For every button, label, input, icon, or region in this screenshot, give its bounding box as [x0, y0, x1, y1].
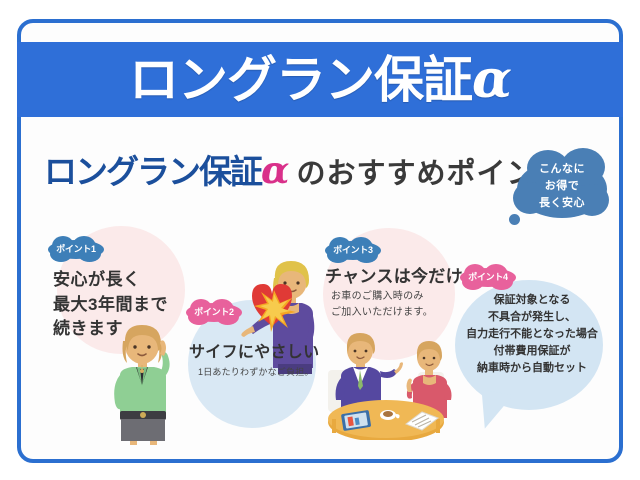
point-1-badge-label: ポイント1 — [48, 242, 104, 256]
point-4-heading: 保証対象となる 不具合が発生し、 自力走行不能となった場合 付帯費用保証が 納車… — [458, 292, 606, 377]
poster-title-brand: ロングラン保証 — [129, 52, 472, 108]
poster-title-alpha: α — [472, 49, 511, 110]
point-3-heading-line-1: チャンスは今だけ — [325, 265, 463, 290]
cloud-bubble-line-3: 長く安心 — [513, 195, 611, 212]
headline-brand: ロングラン保証 — [44, 152, 261, 191]
point-4-heading-line-3: 自力走行不能となった場合 — [458, 326, 606, 343]
point-2-badge-label: ポイント2 — [186, 305, 242, 319]
point-3-badge: ポイント3 — [325, 237, 381, 263]
point-4-heading-line-4: 付帯費用保証が — [458, 343, 606, 360]
point-4-speech-bubble-tail — [475, 390, 513, 433]
point-2-badge: ポイント2 — [186, 299, 242, 325]
headline: ロングラン保証αのおすすめポイント — [44, 152, 567, 189]
point-1-heading-line-2: 最大3年間まで — [53, 293, 168, 318]
poster-title: ロングラン保証α — [129, 54, 511, 106]
cloud-bubble-text: こんなに お得で 長く安心 — [513, 161, 611, 212]
headline-alpha: α — [261, 148, 289, 192]
point-1-heading: 安心が長く 最大3年間まで 続きます — [53, 268, 168, 342]
couple-at-table-illustration — [318, 330, 454, 440]
point-1-heading-line-1: 安心が長く — [53, 268, 168, 293]
point-4-heading-line-2: 不具合が発生し、 — [458, 309, 606, 326]
point-3-subtext-line-2: ご加入いただけます。 — [331, 305, 433, 321]
title-band: ロングラン保証α — [17, 42, 623, 117]
point-3-subtext: お車のご購入時のみ ご加入いただけます。 — [331, 289, 433, 321]
cloud-bubble-line-1: こんなに — [513, 161, 611, 178]
point-2-heading-line-1: サイフにやさしい — [189, 341, 319, 364]
point-4-badge-label: ポイント4 — [460, 270, 516, 284]
point-1-heading-line-3: 続きます — [53, 317, 168, 342]
point-1-badge: ポイント1 — [48, 236, 104, 262]
point-3-subtext-line-1: お車のご購入時のみ — [331, 289, 433, 305]
point-3-heading: チャンスは今だけ — [325, 265, 463, 290]
point-2-subtext-line-1: 1日あたりわずかなご負担。 — [198, 366, 314, 380]
point-4-heading-line-5: 納車時から自動セット — [458, 360, 606, 377]
poster-root: ロングラン保証α ロングラン保証αのおすすめポイント こんなに お得で 長く安心 — [0, 0, 640, 480]
point-2-heading: サイフにやさしい — [189, 341, 319, 364]
cloud-speech-bubble: こんなに お得で 長く安心 — [513, 148, 611, 224]
point-3-badge-label: ポイント3 — [325, 243, 381, 257]
point-4-heading-line-1: 保証対象となる — [458, 292, 606, 309]
point-4-badge: ポイント4 — [460, 264, 516, 290]
point-2-subtext: 1日あたりわずかなご負担。 — [198, 366, 314, 380]
cloud-bubble-tail-dot — [509, 214, 520, 225]
cloud-bubble-line-2: お得で — [513, 178, 611, 195]
